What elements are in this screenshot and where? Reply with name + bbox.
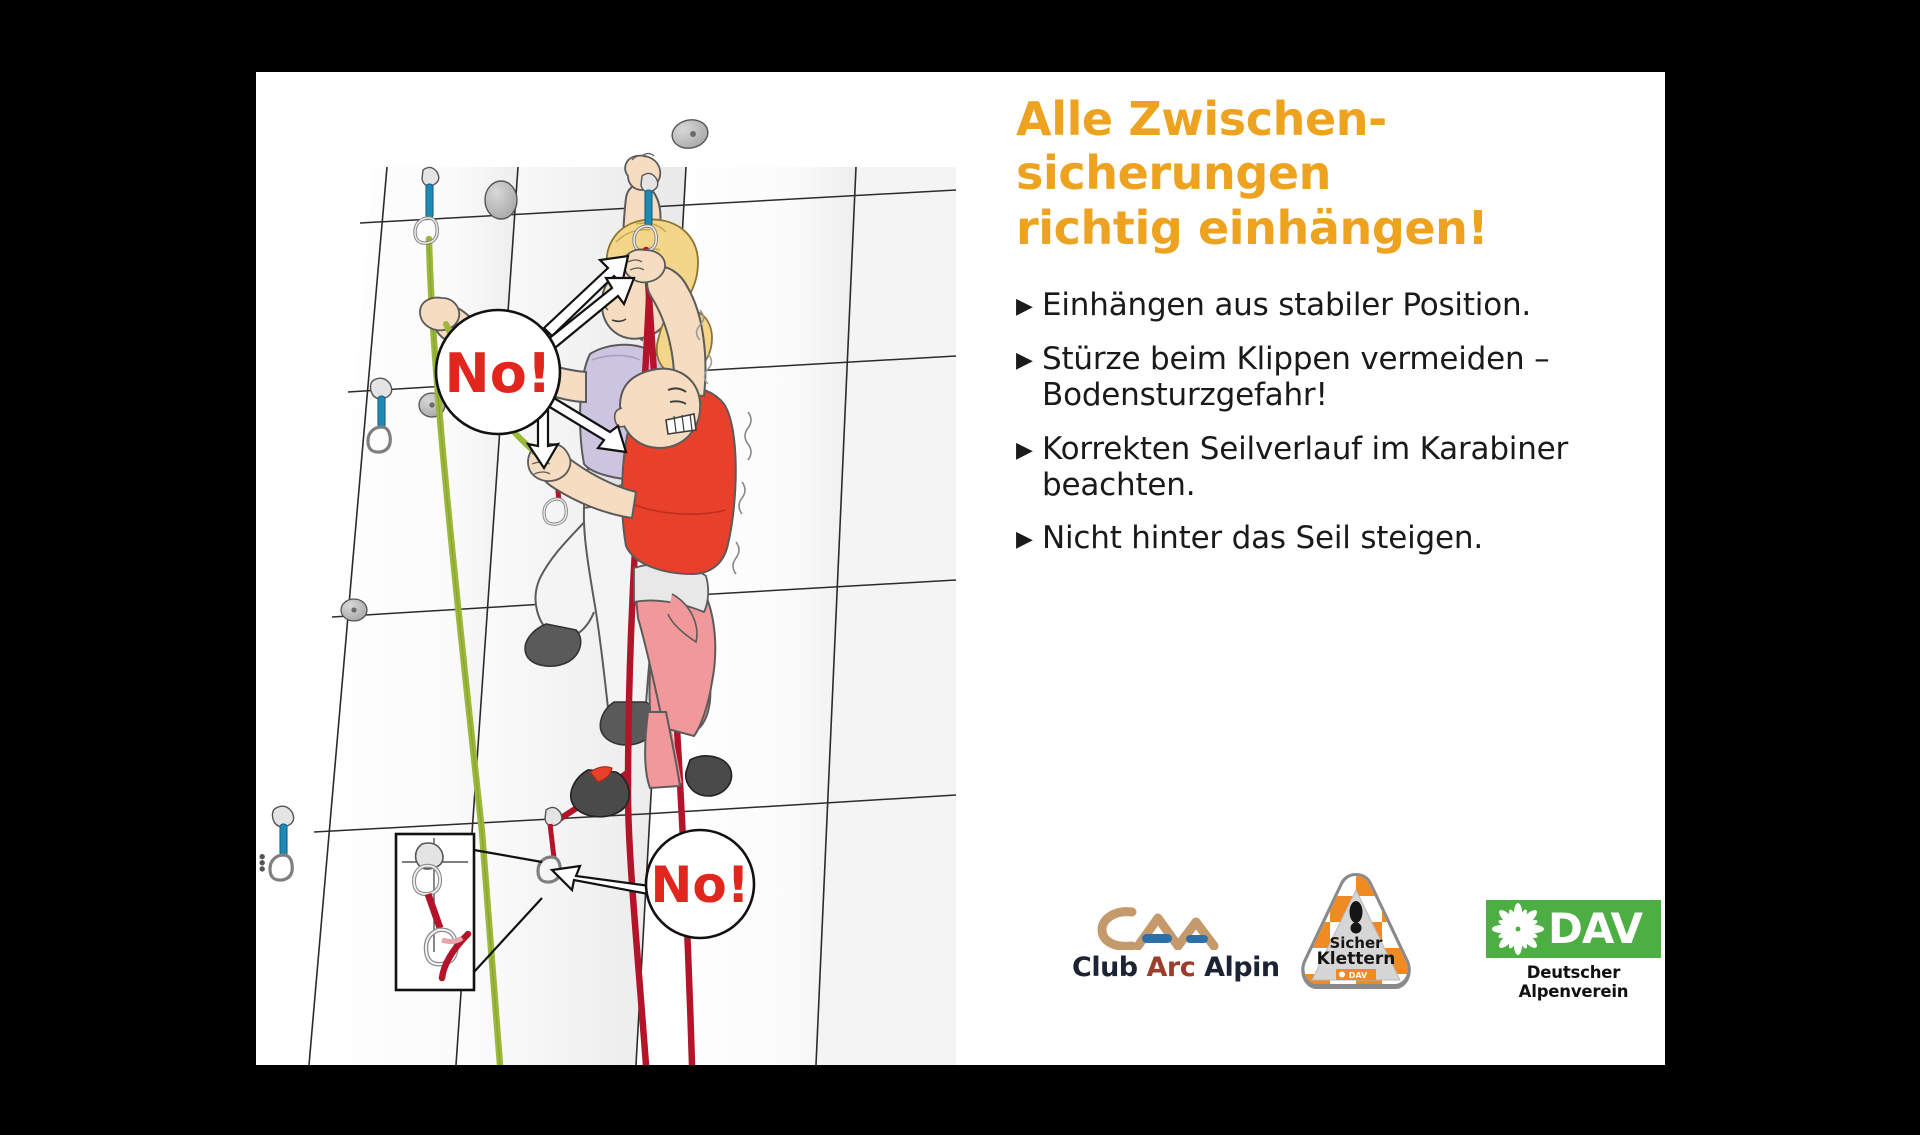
text-column: Alle Zwischen- sicherungen richtig einhä…: [958, 72, 1665, 1065]
list-item-label: Nicht hinter das Seil steigen.: [1042, 520, 1483, 556]
dav-acronym: DAV: [1548, 908, 1642, 950]
list-item-label: Korrekten Seilverlauf im Karabiner beach…: [1042, 431, 1568, 504]
title-line-3: richtig einhängen!: [1016, 201, 1636, 255]
page-title: Alle Zwischen- sicherungen richtig einhä…: [1016, 92, 1636, 255]
list-item-label: Einhängen aus stabiler Position.: [1042, 287, 1531, 323]
logo-dav: DAV Deutscher Alpenverein: [1486, 900, 1661, 996]
logo-sicher-klettern: Sicher Klettern DAV: [1296, 870, 1416, 998]
bullet-arrow-icon: ▶: [1016, 287, 1042, 324]
bullet-arrow-icon: ▶: [1016, 431, 1042, 468]
title-line-2: sicherungen: [1016, 146, 1636, 200]
list-item: ▶ Einhängen aus stabiler Position.: [1016, 287, 1656, 324]
caa-word-2: Arc: [1147, 952, 1196, 983]
svg-text:●●●: ●●●: [258, 854, 266, 872]
list-item: ▶ Korrekten Seilverlauf im Karabiner bea…: [1016, 431, 1656, 504]
list-item: ▶ Stürze beim Klippen vermeiden – Bodens…: [1016, 341, 1656, 414]
caa-word-1: Club: [1072, 952, 1138, 983]
dav-subtitle: Deutscher Alpenverein: [1486, 963, 1661, 1001]
safety-rules-list: ▶ Einhängen aus stabiler Position. ▶ Stü…: [1016, 287, 1656, 574]
edelweiss-icon: [1492, 903, 1544, 955]
list-item-label: Stürze beim Klippen vermeiden – Bodenstu…: [1042, 341, 1549, 414]
warning-text-upper: No!: [445, 342, 552, 405]
bullet-arrow-icon: ▶: [1016, 341, 1042, 378]
list-item: ▶ Nicht hinter das Seil steigen.: [1016, 520, 1656, 557]
content-panel: No!: [256, 72, 1665, 1065]
sk-line-2: Klettern: [1317, 949, 1396, 969]
quickdraw-left-lower: ●●●: [258, 806, 294, 880]
sk-dav-tag: DAV: [1349, 971, 1368, 980]
warning-text-lower: No!: [651, 856, 750, 914]
logo-club-arc-alpin: Club Arc Alpin: [1072, 904, 1252, 994]
bullet-arrow-icon: ▶: [1016, 520, 1042, 557]
dav-green-box: DAV: [1486, 900, 1661, 958]
climbing-illustration: No!: [256, 72, 956, 1065]
logo-row: Club Arc Alpin: [1016, 862, 1656, 1002]
caa-word-3: Alpin: [1204, 952, 1279, 983]
caa-wordmark: Club Arc Alpin: [1072, 952, 1252, 983]
caa-mark-icon: [1092, 904, 1232, 950]
title-line-1: Alle Zwischen-: [1016, 92, 1636, 146]
poster-root: No!: [0, 0, 1920, 1135]
